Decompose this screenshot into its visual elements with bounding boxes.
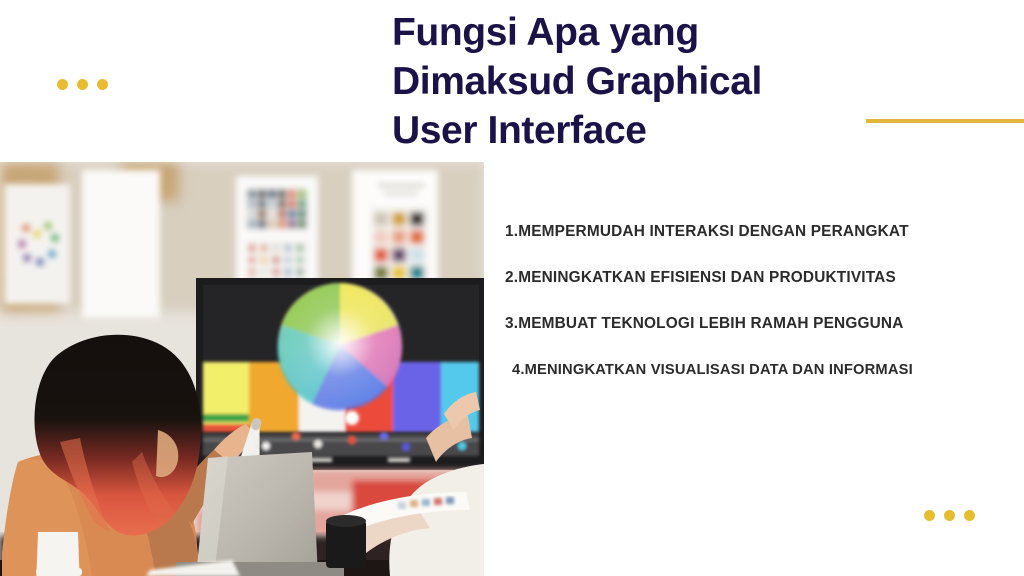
photo-workspace-designer bbox=[0, 162, 484, 576]
page-title: Fungsi Apa yang Dimaksud Graphical User … bbox=[392, 8, 952, 155]
benefits-list: 1.MEMPERMUDAH INTERAKSI DENGAN PERANGKAT… bbox=[505, 222, 1005, 380]
list-item: 3.MEMBUAT TEKNOLOGI LEBIH RAMAH PENGGUNA bbox=[505, 314, 1005, 334]
dot-icon bbox=[944, 510, 955, 521]
dot-icon bbox=[924, 510, 935, 521]
decorative-dots-top-left bbox=[57, 79, 108, 90]
list-item: 4.MENINGKATKAN VISUALISASI DATA DAN INFO… bbox=[505, 360, 1005, 380]
list-item: 2.MENINGKATKAN EFISIENSI DAN PRODUKTIVIT… bbox=[505, 268, 1005, 288]
decorative-dots-bottom-right bbox=[924, 510, 975, 521]
dot-icon bbox=[964, 510, 975, 521]
dot-icon bbox=[97, 79, 108, 90]
dot-icon bbox=[57, 79, 68, 90]
presentation-slide: Fungsi Apa yang Dimaksud Graphical User … bbox=[0, 0, 1024, 576]
dot-icon bbox=[77, 79, 88, 90]
photo-illustration bbox=[0, 162, 484, 576]
list-item: 1.MEMPERMUDAH INTERAKSI DENGAN PERANGKAT bbox=[505, 222, 1005, 242]
